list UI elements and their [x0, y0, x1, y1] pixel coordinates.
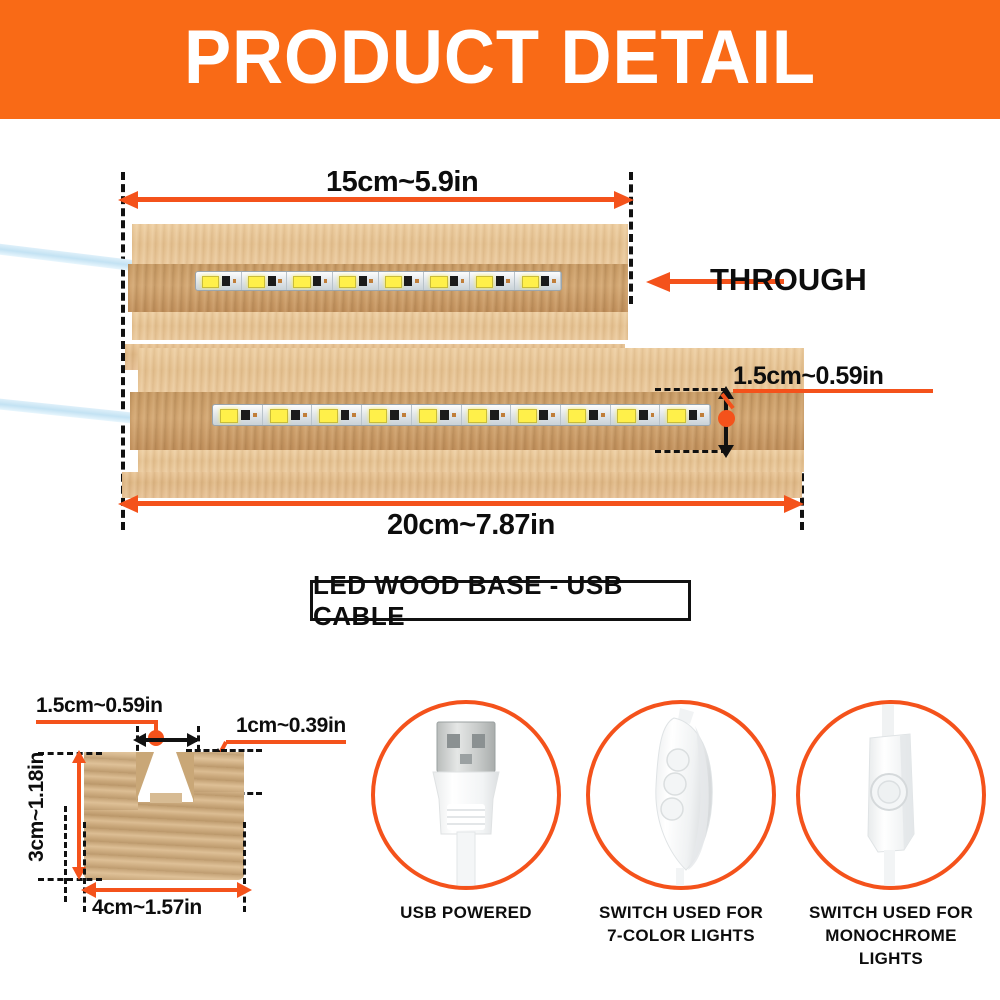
xs-arrow-width-shaft — [90, 888, 240, 892]
feature-monochrome-switch[interactable]: SWITCH USED FOR MONOCHROME LIGHTS — [791, 700, 991, 971]
feature-caption-line2: 7-COLOR LIGHTS — [581, 925, 781, 948]
feature-7color-switch[interactable]: SWITCH USED FOR 7-COLOR LIGHTS — [581, 700, 781, 948]
section-label-box: LED WOOD BASE - USB CABLE — [310, 580, 691, 621]
header-banner: PRODUCT DETAIL — [0, 0, 1000, 119]
feature-caption-line2: MONOCHROME LIGHTS — [791, 925, 991, 971]
three-button-switch-icon — [590, 704, 772, 886]
xs-leader-groove-width — [36, 720, 158, 724]
feature-caption-line1: SWITCH USED FOR — [791, 902, 991, 925]
feature-caption-usb: USB POWERED — [366, 902, 566, 925]
groove-height-arrow-down — [717, 444, 735, 458]
xs-arrow-groove-width-right — [186, 733, 200, 748]
usb-cable-lower — [0, 398, 139, 424]
wood-rail-top-upper — [132, 224, 628, 264]
xs-wood-shoulder-right — [192, 752, 244, 792]
feature-caption-line1: USB POWERED — [366, 902, 566, 925]
feature-usb-powered[interactable]: USB POWERED — [366, 700, 566, 925]
xs-notch-floor — [150, 793, 182, 803]
usb-connector-icon — [375, 704, 557, 886]
wood-front-plank-lower — [122, 472, 802, 498]
xs-label-height: 3cm~1.18in — [25, 742, 49, 872]
wood-rail-bottom-lower — [138, 450, 804, 472]
section-label-text: LED WOOD BASE - USB CABLE — [313, 570, 688, 632]
usb-connector-circle — [371, 700, 561, 890]
dimension-label-bottom-width: 20cm~7.87in — [387, 509, 555, 542]
xs-arrow-height-up — [71, 750, 87, 764]
led-strip-lower — [212, 404, 711, 426]
xs-label-groove-width: 1.5cm~0.59in — [36, 694, 163, 718]
through-label: THROUGH — [710, 262, 867, 298]
led-strip-upper — [195, 271, 562, 291]
single-button-switch-icon — [800, 704, 982, 886]
wood-rail-top-lower — [138, 348, 804, 392]
page-title: PRODUCT DETAIL — [35, 0, 965, 119]
dimension-label-top-width: 15cm~5.9in — [326, 166, 478, 199]
xs-arrow-groove-width-left — [133, 733, 147, 748]
xs-leader-groove-depth — [226, 740, 346, 744]
wood-rail-bottom-upper — [132, 312, 628, 340]
three-button-switch-circle — [586, 700, 776, 890]
feature-caption-line1: SWITCH USED FOR — [581, 902, 781, 925]
feature-caption-7color: SWITCH USED FOR 7-COLOR LIGHTS — [581, 902, 781, 948]
usb-cable-upper — [0, 243, 136, 271]
xs-label-groove-depth: 1cm~0.39in — [236, 714, 346, 738]
feature-caption-monochrome: SWITCH USED FOR MONOCHROME LIGHTS — [791, 902, 991, 971]
product-detail-infographic: PRODUCT DETAIL 15cm~5.9in — [0, 0, 1000, 1000]
xs-label-height-wrapper: 3cm~1.18in — [0, 795, 102, 825]
dimension-label-groove-height: 1.5cm~0.59in — [733, 362, 883, 391]
groove-height-leader-dot — [718, 410, 735, 427]
single-button-switch-circle — [796, 700, 986, 890]
xs-arrow-width-right — [236, 881, 252, 899]
xs-label-width: 4cm~1.57in — [92, 896, 202, 920]
